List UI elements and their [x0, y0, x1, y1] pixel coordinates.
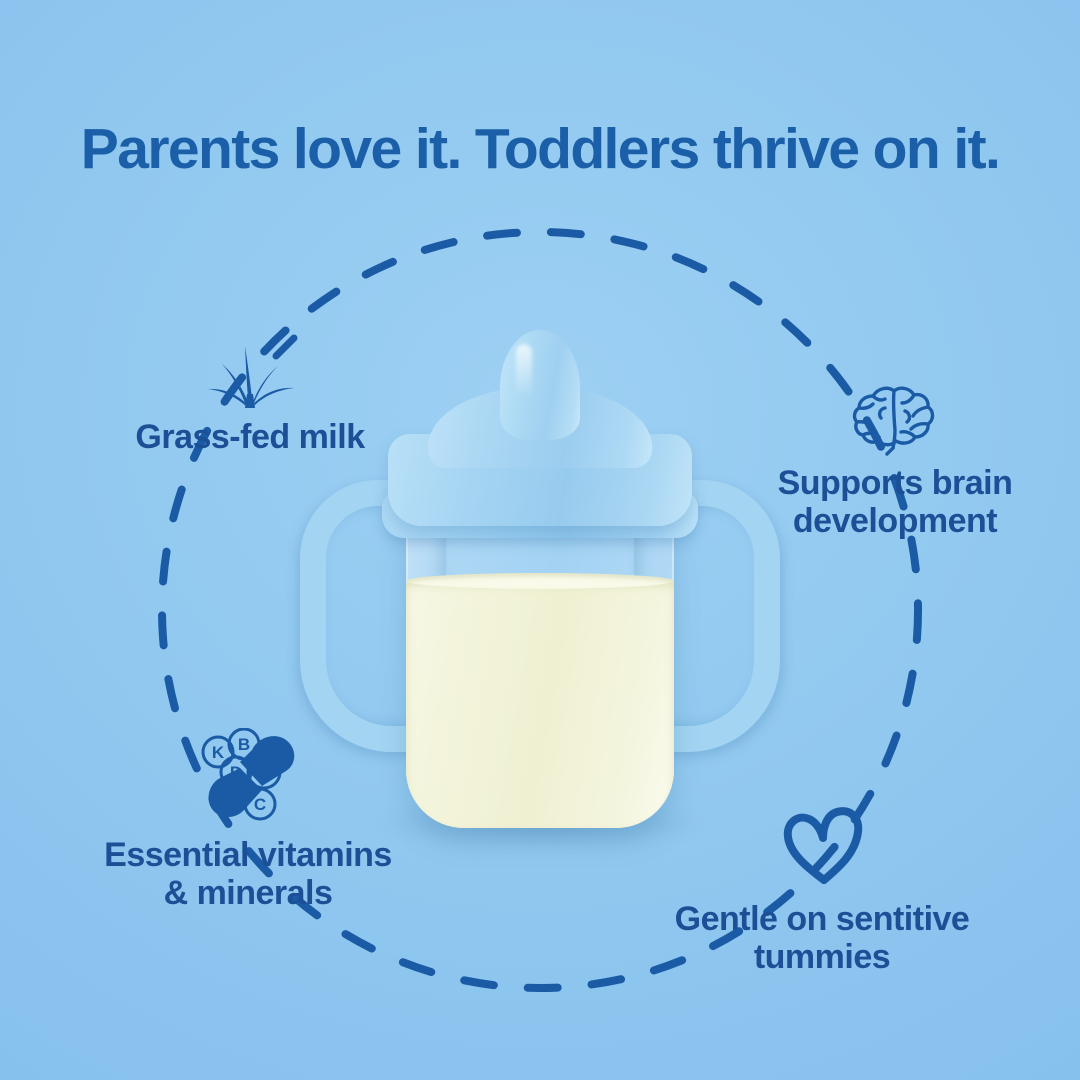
pill-letter: C	[254, 795, 266, 814]
feature-supports-brain-development: Supports brain development	[720, 378, 1070, 540]
brain-icon	[849, 378, 941, 456]
feature-grass-fed-milk: Grass-fed milk	[60, 334, 440, 456]
feature-label: Gentle on sentitive tummies	[622, 900, 1022, 976]
feature-label: Essential vitamins & minerals	[48, 836, 448, 912]
vitamin-pills-icon: K B D A C	[196, 728, 300, 824]
poster-canvas: Parents love it. Toddlers thrive on it.	[0, 0, 1080, 1080]
page-title: Parents love it. Toddlers thrive on it.	[0, 116, 1080, 182]
feature-label: Grass-fed milk	[60, 418, 440, 456]
feature-gentle-on-tummies: Gentle on sentitive tummies	[622, 806, 1022, 976]
pill-letter: D	[230, 763, 242, 782]
heart-icon	[778, 806, 866, 886]
pill-letter: B	[238, 735, 250, 754]
pill-letter: K	[212, 743, 225, 762]
pill-letter: A	[258, 764, 270, 783]
cup-spout-highlight	[516, 344, 532, 398]
feature-essential-vitamins: K B D A C Essential vitamins & minerals	[48, 728, 448, 912]
cup-spout	[500, 330, 580, 440]
feature-label: Supports brain development	[720, 464, 1070, 540]
grass-icon	[202, 334, 298, 412]
